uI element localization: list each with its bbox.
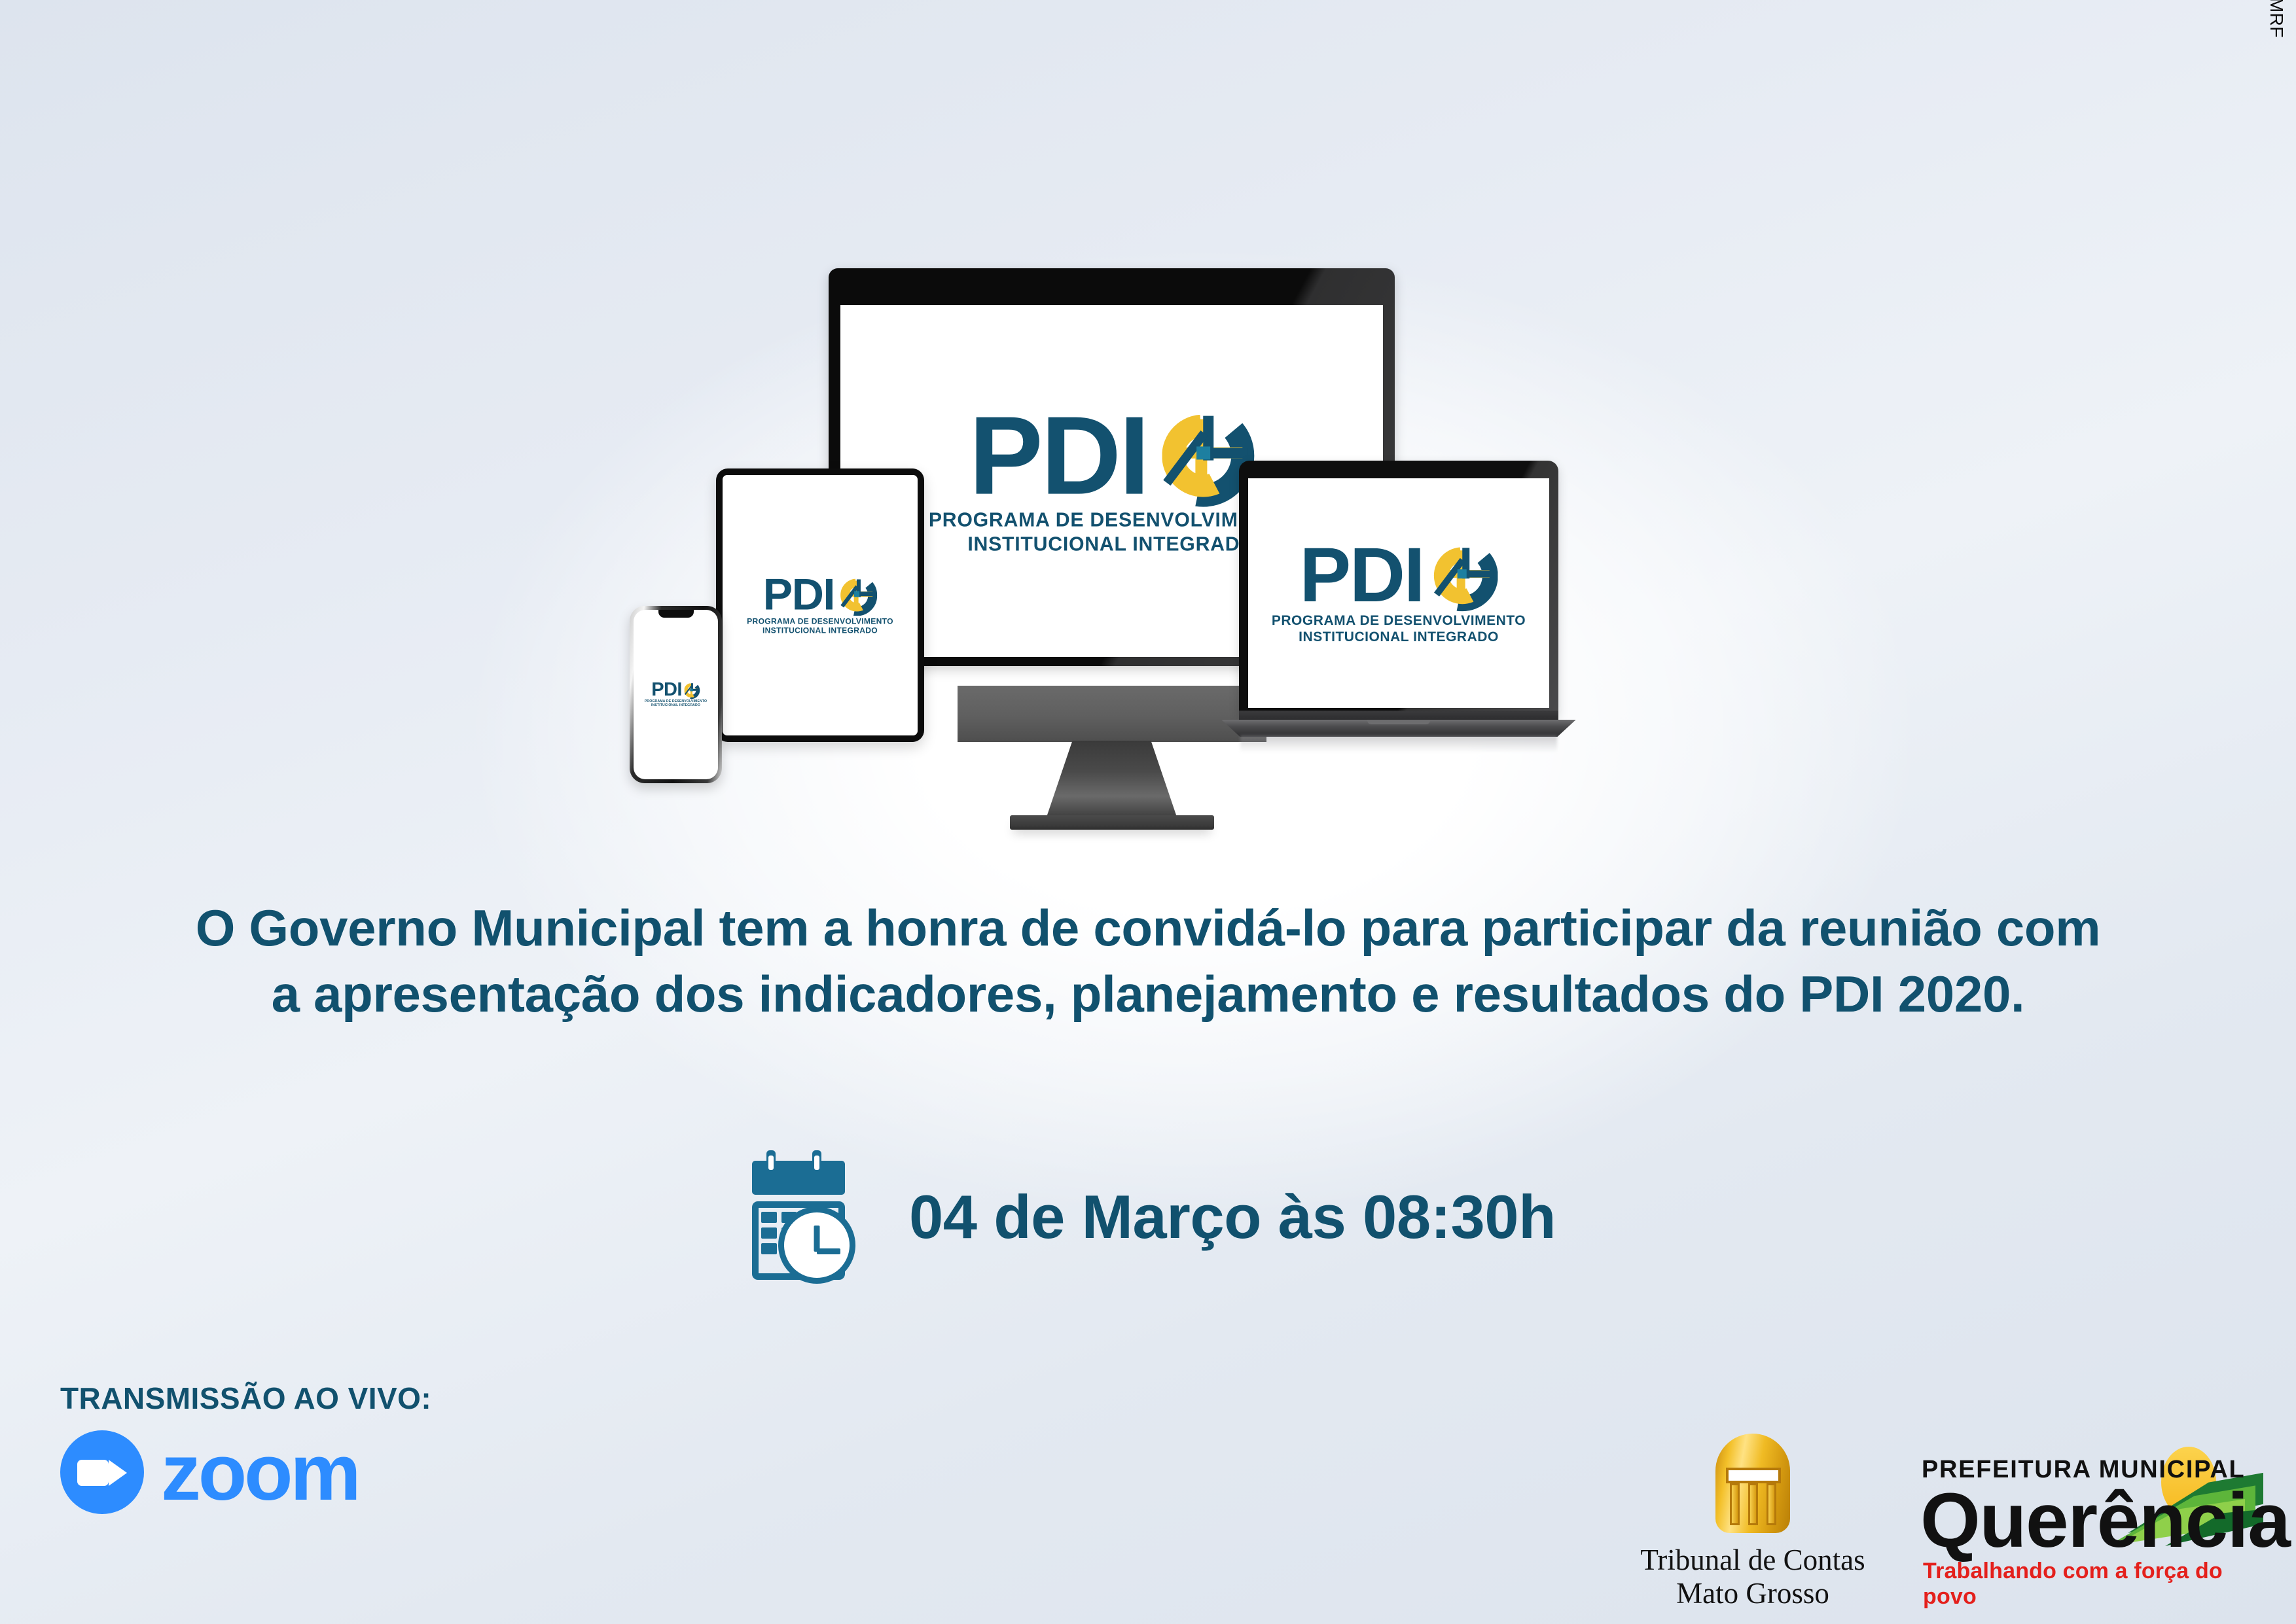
pdi-subtitle: PROGRAMA DE DESENVOLVIMENTO INSTITUCIONA… [645,699,707,708]
pdi-subtitle-line2: INSTITUCIONAL INTEGRADO [762,626,878,635]
calendar-clock-icon [740,1146,878,1287]
pdi-wordmark: PDI [651,682,682,698]
pdi-wordmark: PDI [969,410,1147,501]
logo-tribunal-de-contas: Tribunal de Contas Mato Grosso [1622,1434,1884,1610]
headline-line-2: a apresentação dos indicadores, planejam… [79,961,2217,1027]
tce-name: Tribunal de Contas Mato Grosso [1622,1544,1884,1610]
zoom-logo[interactable]: zoom [60,1430,431,1514]
headline-line-1: O Governo Municipal tem a honra de convi… [79,895,2217,961]
live-broadcast-block: TRANSMISSÃO AO VIVO: zoom [60,1381,431,1514]
device-tablet: PDI PROGRAMA DE DESENVOLVIMENTO INSTITUC… [716,468,924,742]
device-smartphone: PDI PROGRAMA DE DESENVOLVIMENTO INSTITUC… [630,606,722,783]
device-mockup-group: PDI PROGRAMA DE DESENVOLVIMENTO INSTITUC… [622,249,1734,838]
pdi-subtitle-line1: PROGRAMA DE DESENVOLVIMENTO [747,616,893,626]
device-laptop: PDI PROGRAMA DE DESENVOLVIMENTO INSTITUC… [1214,461,1583,743]
pdi-subtitle: PROGRAMA DE DESENVOLVIMENTO INSTITUCIONA… [1272,612,1526,646]
tce-name-line2: Mato Grosso [1676,1577,1829,1610]
footer-logo-group: Tribunal de Contas Mato Grosso PREFEITUR… [1622,1434,2266,1610]
pdi-circular-mark-icon [1427,540,1498,612]
prefeitura-city-name: Querência [1920,1484,2266,1557]
logo-prefeitura-querencia: PREFEITURA MUNICIPAL Querência Trabalhan… [1919,1456,2266,1610]
pdi-logo-laptop: PDI PROGRAMA DE DESENVOLVIMENTO INSTITUC… [1272,540,1526,646]
monitor-stand-base [1010,815,1214,830]
pdi-wordmark: PDI [1300,544,1424,608]
pdi-circular-mark-icon [836,574,878,616]
tablet-screen: PDI PROGRAMA DE DESENVOLVIMENTO INSTITUC… [723,475,918,735]
phone-screen: PDI PROGRAMA DE DESENVOLVIMENTO INSTITUC… [634,610,718,779]
event-datetime-row: 04 de Março às 08:30h [0,1146,2296,1287]
zoom-wordmark: zoom [161,1432,358,1512]
pdi-logo-row: PDI [1300,540,1498,612]
laptop-shadow [1240,735,1557,752]
pdi-subtitle-line1: PROGRAMA DE DESENVOLVIMENTO [645,699,707,703]
laptop-trackpad-notch [1367,720,1430,724]
tce-name-line1: Tribunal de Contas [1640,1544,1865,1576]
prefeitura-tagline: Trabalhando com a força do povo [1923,1559,2266,1610]
watermark-text: MAMRF [2266,0,2287,38]
monitor-stand-post [1047,741,1177,818]
laptop-lid: PDI PROGRAMA DE DESENVOLVIMENTO INSTITUC… [1239,461,1558,716]
phone-notch [658,610,694,618]
pdi-subtitle-line2: INSTITUCIONAL INTEGRADO [651,703,700,707]
pdi-logo-phone: PDI PROGRAMA DE DESENVOLVIMENTO INSTITUC… [645,682,707,708]
pdi-wordmark: PDI [763,577,834,614]
laptop-screen: PDI PROGRAMA DE DESENVOLVIMENTO INSTITUC… [1248,478,1549,708]
pdi-circular-mark-icon [683,682,700,699]
pdi-subtitle-line2: INSTITUCIONAL INTEGRADO [967,533,1255,555]
zoom-camera-icon [60,1430,144,1514]
live-broadcast-label: TRANSMISSÃO AO VIVO: [60,1381,431,1416]
pdi-logo-row: PDI [651,682,700,699]
event-datetime-text: 04 de Março às 08:30h [909,1182,1556,1252]
pdi-subtitle: PROGRAMA DE DESENVOLVIMENTO INSTITUCIONA… [747,616,893,636]
pdi-subtitle-line2: INSTITUCIONAL INTEGRADO [1299,630,1499,645]
tce-dome-columns-icon [1701,1434,1804,1533]
poster-canvas: MAMRF PDI PROGRA [0,0,2296,1624]
pdi-logo-row: PDI [969,405,1254,507]
invitation-headline: O Governo Municipal tem a honra de convi… [0,895,2296,1028]
pdi-logo-tablet: PDI PROGRAMA DE DESENVOLVIMENTO INSTITUC… [747,574,893,635]
pdi-logo-row: PDI [763,574,878,616]
pdi-subtitle-line1: PROGRAMA DE DESENVOLVIMENTO [1272,613,1526,628]
